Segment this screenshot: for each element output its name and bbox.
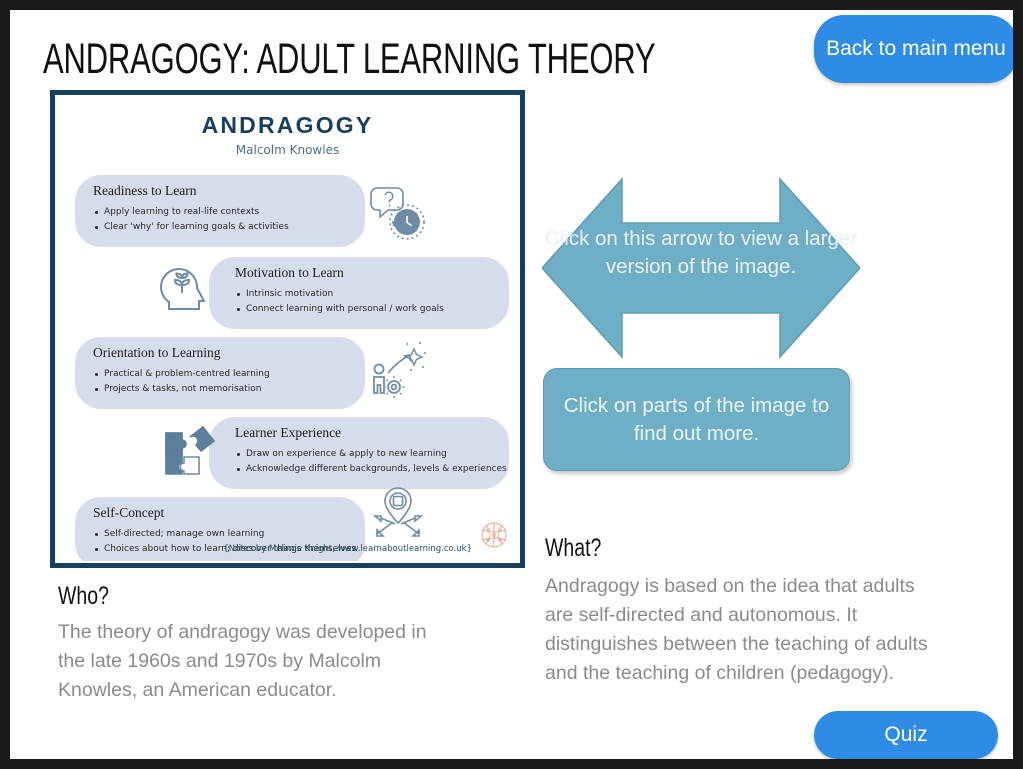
click-parts-callout-label: Click on parts of the image to find out … xyxy=(544,392,849,448)
slide-canvas: ANDRAGOGY: ADULT LEARNING THEORY Back to… xyxy=(10,10,1013,759)
infographic-credit: {Notes by Melanie Knight, www.learnabout… xyxy=(223,544,472,554)
card-bullet: Draw on experience & apply to new learni… xyxy=(235,447,507,462)
what-body-text: Andragogy is based on the idea that adul… xyxy=(545,572,945,688)
pin-arrows-icon xyxy=(367,482,429,551)
brain-logo-icon xyxy=(476,518,512,559)
infographic-title: ANDRAGOGY xyxy=(57,112,518,139)
card-learner-experience[interactable]: Learner Experience Draw on experience & … xyxy=(209,417,509,489)
card-heading: Readiness to Learn xyxy=(93,183,196,199)
card-heading: Orientation to Learning xyxy=(93,345,220,361)
card-bullet: Connect learning with personal / work go… xyxy=(235,302,444,317)
infographic-inner: ANDRAGOGY Malcolm Knowles Readiness to L… xyxy=(57,97,518,561)
card-bullet: Practical & problem-centred learning xyxy=(93,367,270,382)
click-parts-callout[interactable]: Click on parts of the image to find out … xyxy=(543,368,850,471)
person-gear-star-icon xyxy=(367,337,429,406)
card-heading: Motivation to Learn xyxy=(235,265,344,281)
puzzle-icon xyxy=(160,415,220,482)
card-bullets: Draw on experience & apply to new learni… xyxy=(235,447,507,477)
card-bullet: Self-directed; manage own learning xyxy=(93,527,356,542)
card-orientation-to-learning[interactable]: Orientation to Learning Practical & prob… xyxy=(75,337,365,409)
card-bullet: Intrinsic motivation xyxy=(235,287,444,302)
card-bullet: Apply learning to real-life contexts xyxy=(93,205,289,220)
back-to-main-menu-label: Back to main menu xyxy=(826,36,1006,62)
who-heading: Who? xyxy=(58,582,109,611)
who-body-text: The theory of andragogy was developed in… xyxy=(58,618,458,705)
card-bullet: Acknowledge different backgrounds, level… xyxy=(235,462,507,477)
card-readiness-to-learn[interactable]: Readiness to Learn Apply learning to rea… xyxy=(75,175,365,247)
card-heading: Self-Concept xyxy=(93,505,164,521)
infographic-subtitle: Malcolm Knowles xyxy=(57,143,518,157)
card-motivation-to-learn[interactable]: Motivation to Learn Intrinsic motivation… xyxy=(209,257,509,329)
andragogy-infographic[interactable]: ANDRAGOGY Malcolm Knowles Readiness to L… xyxy=(50,90,525,568)
back-to-main-menu-button[interactable]: Back to main menu xyxy=(814,15,1013,83)
card-bullet: Clear 'why' for learning goals & activit… xyxy=(93,220,289,235)
card-bullets: Apply learning to real-life contexts Cle… xyxy=(93,205,289,235)
enlarge-image-arrow[interactable] xyxy=(542,175,860,361)
card-heading: Learner Experience xyxy=(235,425,341,441)
page-title: ANDRAGOGY: ADULT LEARNING THEORY xyxy=(43,34,655,84)
head-plant-icon xyxy=(157,263,213,326)
question-clock-icon xyxy=(367,182,429,249)
quiz-label: Quiz xyxy=(884,722,927,748)
card-bullets: Intrinsic motivation Connect learning wi… xyxy=(235,287,444,317)
card-bullet: Projects & tasks, not memorisation xyxy=(93,382,270,397)
card-bullets: Practical & problem-centred learning Pro… xyxy=(93,367,270,397)
quiz-button[interactable]: Quiz xyxy=(814,711,998,759)
what-heading: What? xyxy=(545,534,601,563)
